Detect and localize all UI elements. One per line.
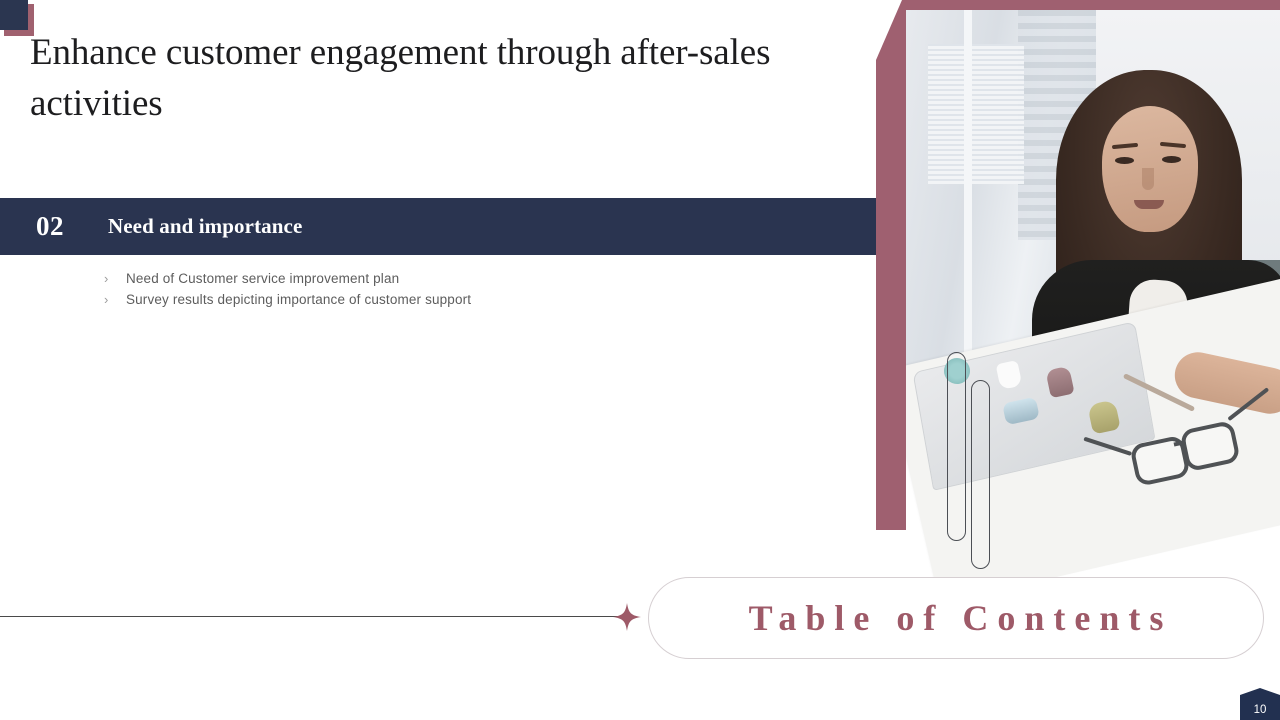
table-of-contents-button[interactable]: Table of Contents (648, 577, 1264, 659)
photo-eye-left (1115, 157, 1134, 164)
hero-photo-block (876, 0, 1280, 580)
chevron-right-icon: › (104, 270, 126, 288)
list-item-label: Survey results depicting importance of c… (126, 291, 471, 309)
photo-mouth (1134, 200, 1164, 209)
chevron-right-icon: › (104, 291, 126, 309)
capsule-outline-decor (971, 380, 990, 569)
photo-nose (1142, 168, 1154, 190)
page-title: Enhance customer engagement through afte… (30, 28, 830, 129)
section-number: 02 (36, 211, 108, 242)
corner-block-face (0, 0, 28, 30)
photo-blinds (928, 44, 1024, 184)
corner-block-icon (0, 0, 34, 36)
photo-eye-right (1162, 156, 1181, 163)
table-of-contents-label: Table of Contents (740, 597, 1173, 639)
list-item: › Survey results depicting importance of… (104, 291, 744, 309)
page-number-badge: 10 (1240, 688, 1280, 720)
list-item: › Need of Customer service improvement p… (104, 270, 744, 288)
four-point-star-icon (612, 602, 642, 632)
slide-canvas: Enhance customer engagement through afte… (0, 0, 1280, 720)
footer-divider (0, 616, 620, 617)
bullet-list: › Need of Customer service improvement p… (104, 270, 744, 312)
section-label: Need and importance (108, 214, 302, 239)
list-item-label: Need of Customer service improvement pla… (126, 270, 399, 288)
section-banner: 02 Need and importance (0, 198, 896, 255)
capsule-outline-decor (947, 352, 966, 541)
